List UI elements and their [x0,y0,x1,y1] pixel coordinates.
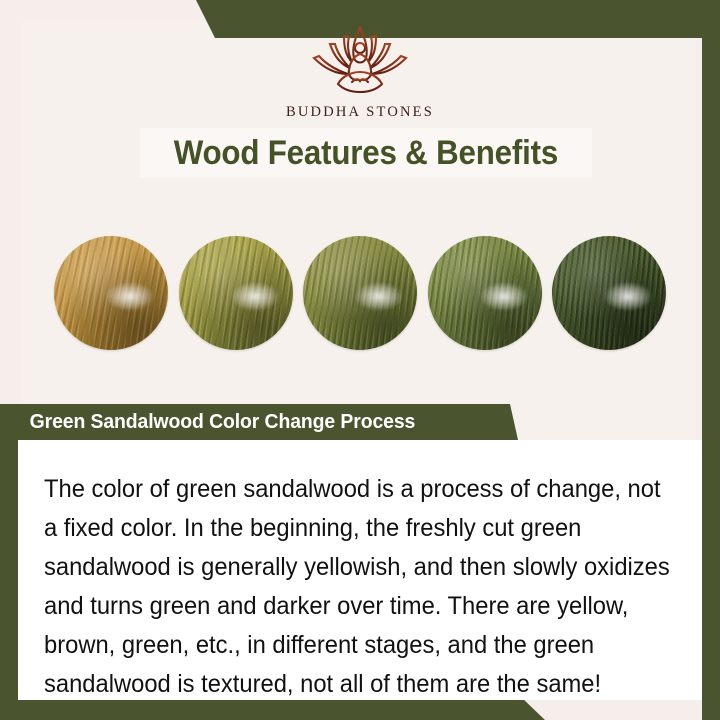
title-banner: Wood Features & Benefits [140,128,592,178]
body-card: The color of green sandalwood is a proce… [18,440,702,700]
bead-highlight [231,282,279,312]
section-heading: Green Sandalwood Color Change Process [18,411,415,434]
page-title: Wood Features & Benefits [174,136,558,170]
bead-stage-4 [428,236,542,350]
brand-name: BUDDHA STONES [286,104,434,121]
lotus-meditation-icon [308,24,412,98]
bead-highlight [480,282,528,312]
frame-left-strip [0,404,18,720]
section-banner: Green Sandalwood Color Change Process [18,404,518,440]
poster-root: BUDDHA STONES Wood Features & Benefits [0,0,720,720]
bead-row [22,233,698,353]
bead-stage-1 [54,236,168,350]
bead-stage-2 [179,236,293,350]
bead-stage-5 [552,236,666,350]
brand-logo: BUDDHA STONES [0,24,720,121]
body-paragraph: The color of green sandalwood is a proce… [44,470,674,704]
bead-stage-3 [303,236,417,350]
